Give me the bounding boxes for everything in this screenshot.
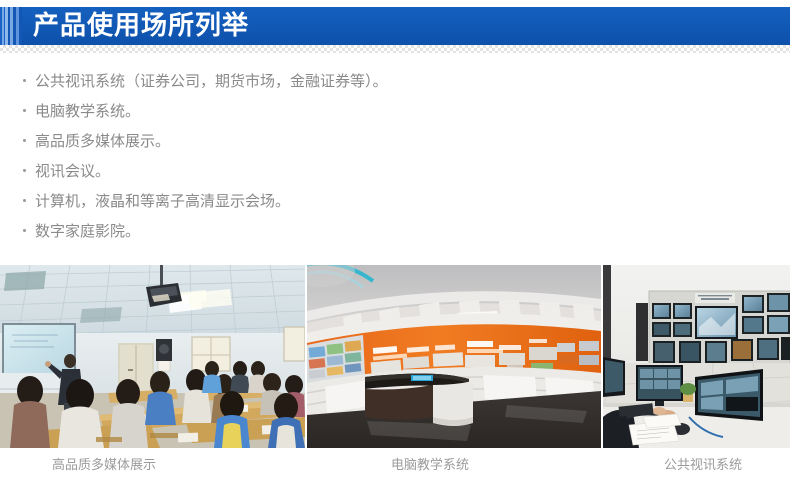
list-item-label: 公共视讯系统（证券公司，期货市场，金融证券等）。 bbox=[35, 72, 388, 90]
bullet-dot-icon bbox=[23, 229, 26, 232]
product-usage-scenarios-page: 产品使用场所列举 公共视讯系统（证券公司，期货市场，金融证券等）。 电脑教学系统… bbox=[0, 0, 790, 482]
bullet-dot-icon bbox=[23, 199, 26, 202]
list-item: 数字家庭影院。 bbox=[22, 216, 762, 246]
page-title: 产品使用场所列举 bbox=[33, 13, 249, 39]
list-item-label: 计算机，液晶和等离子高清显示会场。 bbox=[35, 192, 290, 210]
list-item: 电脑教学系统。 bbox=[22, 96, 762, 126]
list-item: 计算机，液晶和等离子高清显示会场。 bbox=[22, 186, 762, 216]
photo-caption: 电脑教学系统 bbox=[391, 455, 469, 477]
exhibition-hall-photo bbox=[307, 265, 601, 448]
photo-caption: 高品质多媒体展示 bbox=[52, 455, 156, 477]
bullet-dot-icon bbox=[23, 139, 26, 142]
list-item-label: 数字家庭影院。 bbox=[35, 222, 140, 240]
list-item-label: 视讯会议。 bbox=[35, 162, 110, 180]
classroom-projection-photo bbox=[0, 265, 305, 448]
bullet-dot-icon bbox=[23, 169, 26, 172]
usage-scenario-list: 公共视讯系统（证券公司，期货市场，金融证券等）。 电脑教学系统。 高品质多媒体展… bbox=[22, 66, 762, 246]
list-item-label: 电脑教学系统。 bbox=[35, 102, 140, 120]
surveillance-control-room-photo bbox=[603, 265, 790, 448]
photo-caption: 公共视讯系统 bbox=[664, 455, 742, 477]
section-header: 产品使用场所列举 bbox=[0, 7, 790, 45]
list-item: 高品质多媒体展示。 bbox=[22, 126, 762, 156]
list-item: 视讯会议。 bbox=[22, 156, 762, 186]
bullet-dot-icon bbox=[23, 109, 26, 112]
header-blue-bar: 产品使用场所列举 bbox=[22, 7, 790, 45]
list-item-label: 高品质多媒体展示。 bbox=[35, 132, 170, 150]
header-stripe-decoration bbox=[0, 7, 22, 45]
photo-captions: 高品质多媒体展示 电脑教学系统 公共视讯系统 bbox=[0, 455, 790, 477]
bullet-dot-icon bbox=[23, 79, 26, 82]
list-item: 公共视讯系统（证券公司，期货市场，金融证券等）。 bbox=[22, 66, 762, 96]
photo-gallery bbox=[0, 265, 790, 448]
header-hatch-divider bbox=[0, 45, 790, 53]
